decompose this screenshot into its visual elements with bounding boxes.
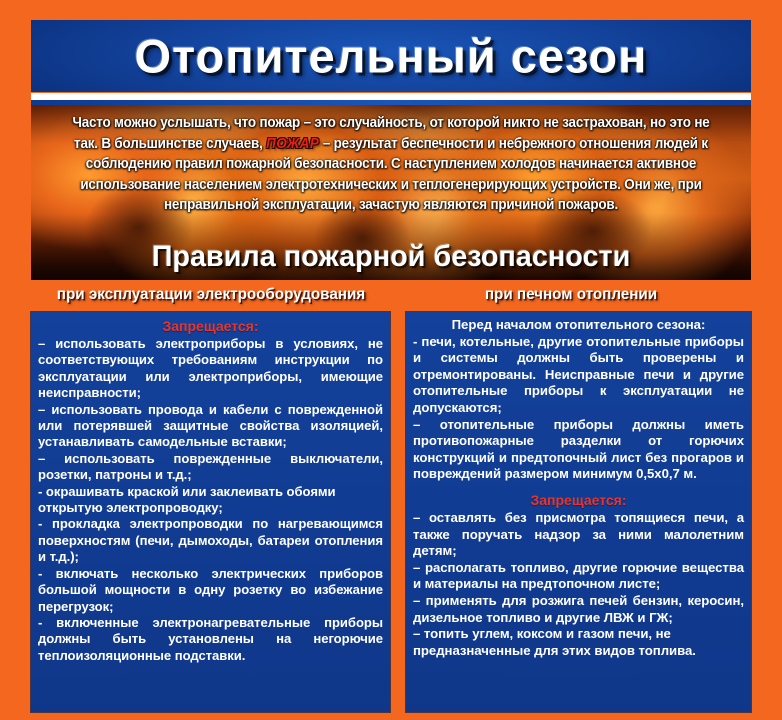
- subtitle-stove-heating: при печном отоплении: [400, 282, 742, 308]
- right-lead-title: Перед началом отопительного сезона:: [413, 317, 744, 334]
- title-banner: Отопительный сезон: [31, 20, 751, 92]
- list-item: - включенные электронагревательные прибо…: [38, 615, 383, 664]
- list-item: – отопительные приборы должны иметь прот…: [413, 417, 744, 483]
- subtitle-electrical: при эксплуатации электрооборудования: [40, 282, 382, 308]
- right-forbidden-title: Запрещается:: [413, 492, 744, 509]
- list-item: – топить углем, коксом и газом печи, не …: [413, 626, 744, 659]
- list-item: – оставлять без присмотра топящиеся печи…: [413, 510, 744, 560]
- list-item: - включать несколько электрических прибо…: [38, 566, 383, 615]
- list-item: – применять для розжига печей бензин, ке…: [413, 593, 744, 626]
- subtitle-row: при эксплуатации электрооборудования при…: [31, 282, 751, 308]
- fire-safety-poster: Отопительный сезон Часто можно услышать,…: [0, 0, 782, 720]
- list-item: - печи, котельные, другие отопительные п…: [413, 334, 744, 417]
- panel-electrical-rules: Запрещается: – использовать электроприбо…: [31, 312, 390, 712]
- list-item: - окрашивать краской или заклеивать обоя…: [38, 484, 383, 517]
- page-title: Отопительный сезон: [31, 33, 751, 80]
- flame-intro-area: Часто можно услышать, что пожар – это сл…: [31, 105, 751, 280]
- panel-stove-rules: Перед началом отопительного сезона: - пе…: [406, 312, 751, 712]
- intro-paragraph: Часто можно услышать, что пожар – это сл…: [60, 113, 722, 216]
- list-item: - прокладка электропроводки по нагревающ…: [38, 516, 383, 565]
- list-item: – использовать провода и кабели с повреж…: [38, 402, 383, 451]
- list-item: – использовать электроприборы в условиях…: [38, 336, 383, 402]
- left-forbidden-title: Запрещается:: [38, 318, 383, 335]
- rules-heading: Правила пожарной безопасности: [45, 241, 736, 273]
- list-item: – располагать топливо, другие горючие ве…: [413, 560, 744, 593]
- intro-highlight-pozhar: ПОЖАР: [266, 136, 319, 152]
- banner-white-stripe: [31, 93, 751, 100]
- list-item: – использовать поврежденные выключатели,…: [38, 451, 383, 484]
